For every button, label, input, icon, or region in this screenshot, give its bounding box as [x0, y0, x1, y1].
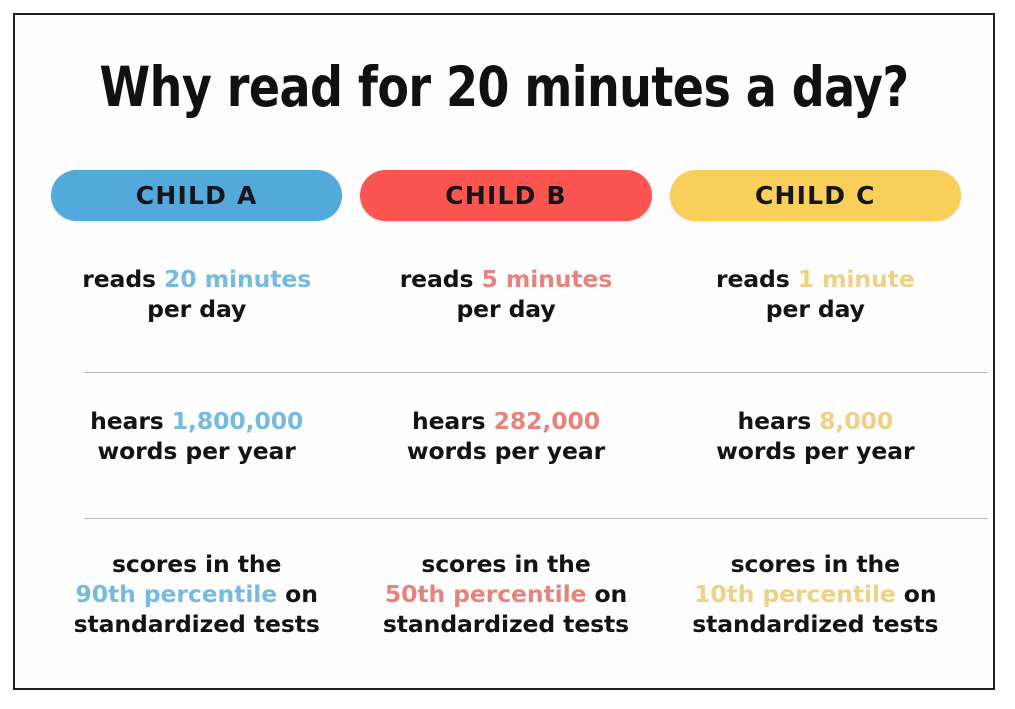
- score-line-3: standardized tests: [42, 609, 351, 639]
- words-prefix: hears: [90, 407, 164, 435]
- reading-prefix: reads: [82, 265, 156, 293]
- reading-line-2: per day: [351, 294, 660, 324]
- words-value: 282,000: [494, 407, 600, 435]
- reading-line-2: per day: [661, 294, 970, 324]
- column-child-c: CHILD C: [661, 170, 970, 221]
- reading-line-2: per day: [42, 294, 351, 324]
- divider-1: [84, 372, 988, 373]
- words-line-2: words per year: [351, 436, 660, 466]
- header-pill-child-a[interactable]: CHILD A: [51, 170, 342, 221]
- row-words-per-year: hears 1,800,000 words per year hears 282…: [42, 406, 970, 466]
- score-line-3: standardized tests: [661, 609, 970, 639]
- header-pill-child-c[interactable]: CHILD C: [670, 170, 961, 221]
- words-prefix: hears: [412, 407, 486, 435]
- score-value: 50th percentile: [385, 580, 587, 608]
- header-pill-child-b[interactable]: CHILD B: [360, 170, 651, 221]
- score-value: 90th percentile: [75, 580, 277, 608]
- words-prefix: hears: [738, 407, 812, 435]
- row-percentile: scores in the 90th percentile on standar…: [42, 549, 970, 639]
- words-line-1: hears 8,000: [661, 406, 970, 436]
- row-reading-time: reads 20 minutes per day reads 5 minutes…: [42, 264, 970, 324]
- cell-reading-child-c: reads 1 minute per day: [661, 264, 970, 324]
- cell-score-child-b: scores in the 50th percentile on standar…: [351, 549, 660, 639]
- score-line-1: scores in the: [661, 549, 970, 579]
- divider-2: [84, 518, 988, 519]
- score-line-2: 90th percentile on: [42, 579, 351, 609]
- reading-line-1: reads 1 minute: [661, 264, 970, 294]
- reading-prefix: reads: [400, 265, 474, 293]
- column-headers: CHILD A CHILD B CHILD C: [42, 170, 970, 221]
- page-title: Why read for 20 minutes a day?: [49, 57, 959, 117]
- score-after: on: [896, 580, 937, 608]
- reading-value: 5 minutes: [481, 265, 612, 293]
- words-value: 1,800,000: [172, 407, 303, 435]
- score-after: on: [586, 580, 627, 608]
- cell-score-child-a: scores in the 90th percentile on standar…: [42, 549, 351, 639]
- reading-value: 1 minute: [798, 265, 915, 293]
- score-value: 10th percentile: [694, 580, 896, 608]
- reading-value: 20 minutes: [164, 265, 311, 293]
- cell-reading-child-a: reads 20 minutes per day: [42, 264, 351, 324]
- reading-prefix: reads: [716, 265, 790, 293]
- words-line-1: hears 1,800,000: [42, 406, 351, 436]
- score-line-2: 50th percentile on: [351, 579, 660, 609]
- cell-words-child-a: hears 1,800,000 words per year: [42, 406, 351, 466]
- score-after: on: [277, 580, 318, 608]
- cell-words-child-b: hears 282,000 words per year: [351, 406, 660, 466]
- score-line-3: standardized tests: [351, 609, 660, 639]
- words-line-2: words per year: [42, 436, 351, 466]
- words-line-1: hears 282,000: [351, 406, 660, 436]
- score-line-1: scores in the: [42, 549, 351, 579]
- column-child-a: CHILD A: [42, 170, 351, 221]
- cell-words-child-c: hears 8,000 words per year: [661, 406, 970, 466]
- column-child-b: CHILD B: [351, 170, 660, 221]
- reading-line-1: reads 20 minutes: [42, 264, 351, 294]
- cell-reading-child-b: reads 5 minutes per day: [351, 264, 660, 324]
- score-line-2: 10th percentile on: [661, 579, 970, 609]
- score-line-1: scores in the: [351, 549, 660, 579]
- words-line-2: words per year: [661, 436, 970, 466]
- words-value: 8,000: [819, 407, 893, 435]
- infographic-card: Why read for 20 minutes a day? CHILD A C…: [13, 13, 995, 690]
- reading-line-1: reads 5 minutes: [351, 264, 660, 294]
- cell-score-child-c: scores in the 10th percentile on standar…: [661, 549, 970, 639]
